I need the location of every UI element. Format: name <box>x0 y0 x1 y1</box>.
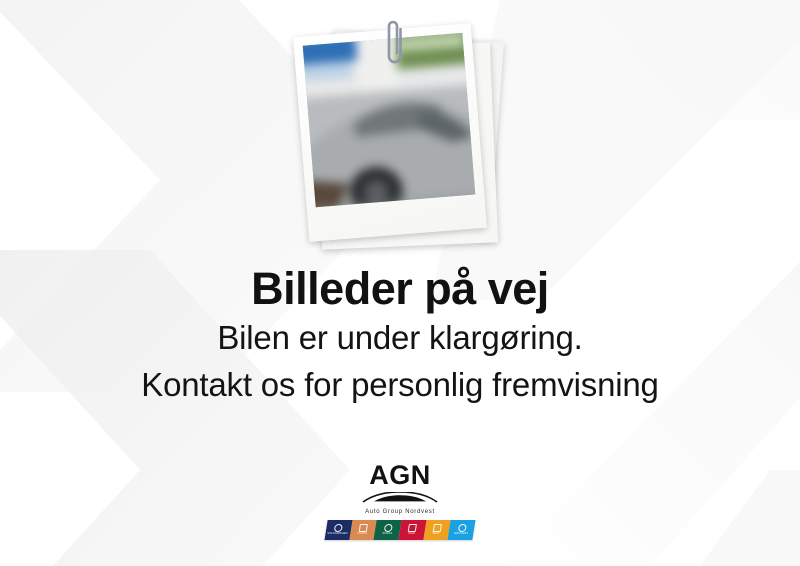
subtitle-line-2: Kontakt os for personlig fremvisning <box>0 364 800 407</box>
page-title: Billeder på vej <box>0 266 800 313</box>
polaroid-stack <box>0 0 800 262</box>
paperclip-icon <box>381 17 409 78</box>
brand-tile-vw-erhverv[interactable]: ERHVERV <box>448 520 476 540</box>
agn-tagline: Auto Group Nordvest <box>365 509 435 515</box>
brand-tile-volkswagen[interactable]: VOLKSWAGEN <box>324 520 352 540</box>
brand-strip: VOLKSWAGEN CUPRA SKODA AUDI SEAT ERHVERV <box>324 520 475 540</box>
agn-logo: AGN Auto Group Nordvest VOLKSWAGEN CUPRA… <box>0 462 800 540</box>
brand-label: VOLKSWAGEN <box>327 533 347 536</box>
brand-label: SEAT <box>433 533 440 536</box>
audi-logo-icon <box>408 524 417 532</box>
brand-tile-skoda[interactable]: SKODA <box>374 520 402 540</box>
vw-logo-icon <box>334 524 343 532</box>
message-block: Billeder på vej Bilen er under klargørin… <box>0 266 800 407</box>
brand-label: SKODA <box>382 533 392 536</box>
skoda-logo-icon <box>383 524 392 532</box>
brand-label: ERHVERV <box>454 533 468 536</box>
car-roof-arc-icon <box>362 490 438 508</box>
brand-label: AUDI <box>408 533 415 536</box>
cupra-logo-icon <box>359 524 368 532</box>
agn-wordmark: AGN <box>369 462 431 489</box>
subtitle-line-1: Bilen er under klargøring. <box>0 317 800 360</box>
seat-logo-icon <box>433 524 442 532</box>
brand-label: CUPRA <box>357 533 367 536</box>
brand-tile-audi[interactable]: AUDI <box>398 520 426 540</box>
brand-tile-seat[interactable]: SEAT <box>423 520 451 540</box>
brand-tile-cupra[interactable]: CUPRA <box>349 520 377 540</box>
placeholder-card: Billeder på vej Bilen er under klargørin… <box>0 0 800 566</box>
vw-erhverv-logo-icon <box>457 524 466 532</box>
